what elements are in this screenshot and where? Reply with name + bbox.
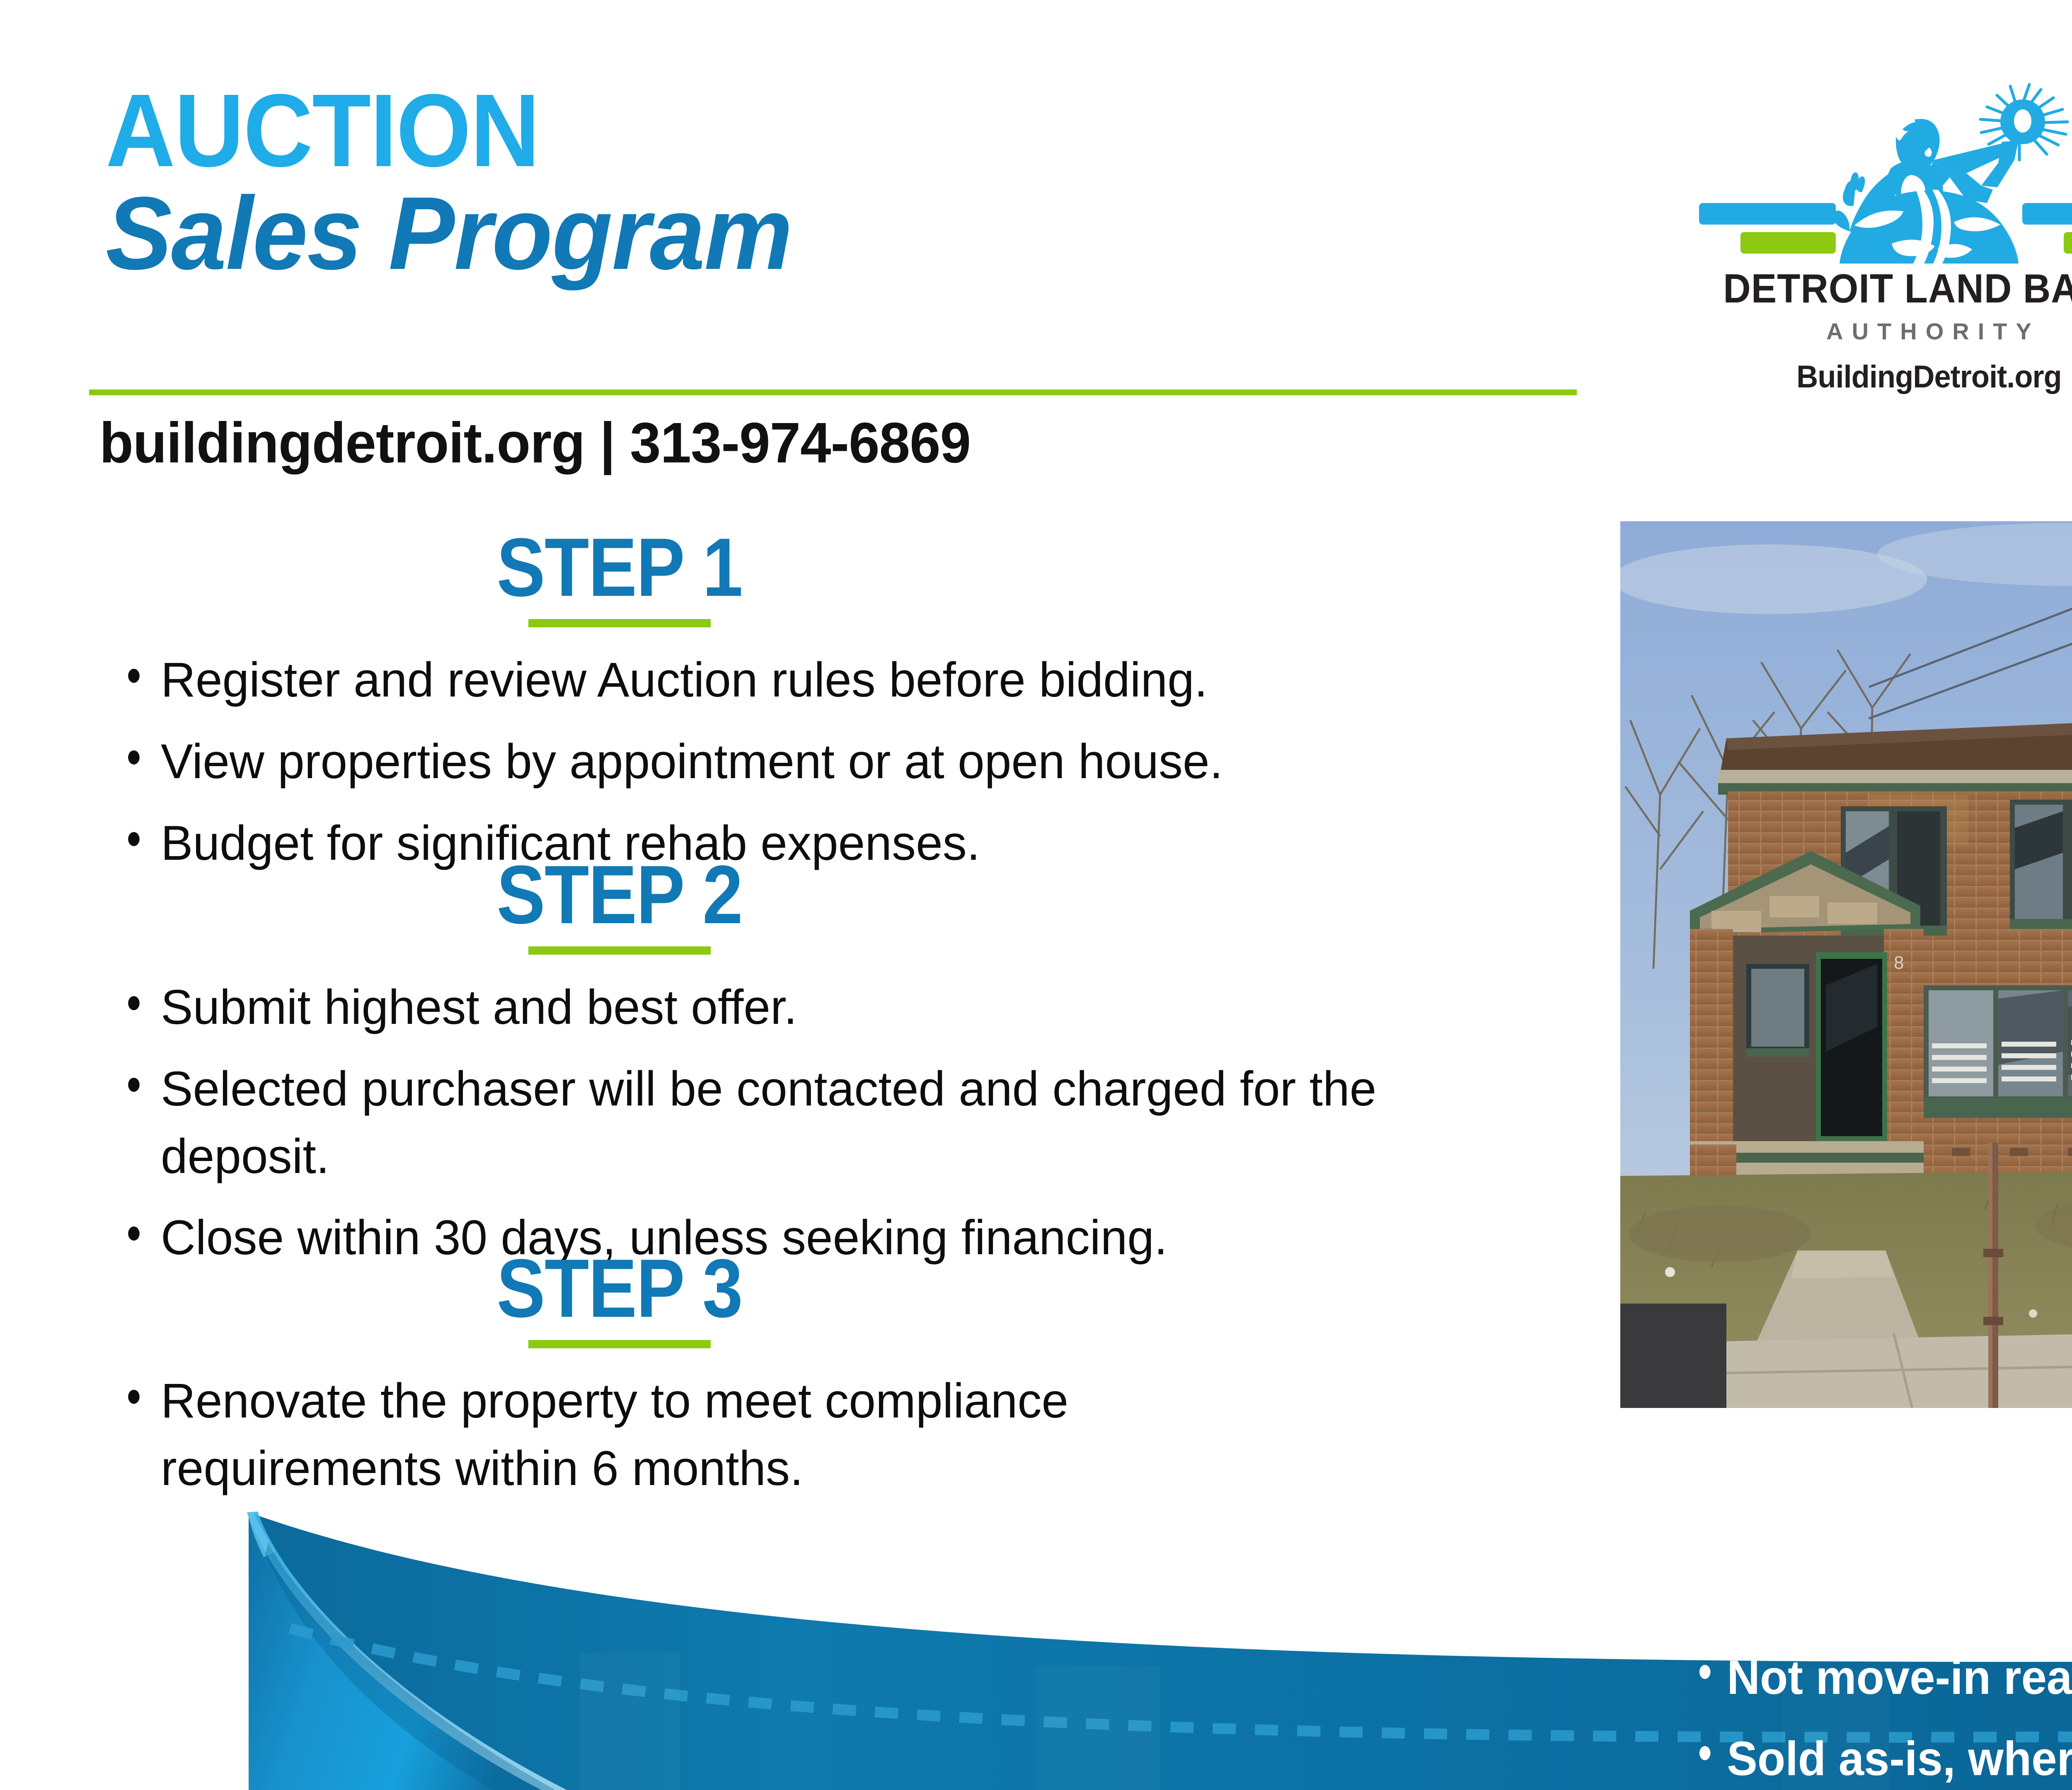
logo-bar-green-left <box>1740 232 1836 254</box>
step-3-underline <box>528 1340 711 1348</box>
step-2-bullet-list: Submit highest and best offer. Selected … <box>106 974 1577 1272</box>
logo-bar-blue-right <box>2022 203 2072 225</box>
ribbon-bullet-list: Not move-in ready Sold as-is, where-is <box>1691 1653 2072 1790</box>
title-block: AUCTION Sales Program <box>106 83 1598 285</box>
list-item: View properties by appointment or at ope… <box>106 728 1467 796</box>
step-3-title: STEP 3 <box>497 1247 743 1330</box>
logo-bar-green-right <box>2064 232 2072 254</box>
property-photo: 8 <box>1620 521 2072 1408</box>
step-2: STEP 2 Submit highest and best offer. Se… <box>106 854 1577 1286</box>
step-1-header: STEP 1 <box>106 526 1133 627</box>
list-item: Register and review Auction rules before… <box>106 646 1467 714</box>
svg-text:8: 8 <box>1894 953 1904 973</box>
step-1: STEP 1 Register and review Auction rules… <box>106 526 1577 891</box>
step-1-underline <box>528 619 711 627</box>
logo-org-subtitle: AUTHORITY <box>1670 318 2072 345</box>
logo-url[interactable]: BuildingDetroit.org <box>1683 359 2072 395</box>
step-1-title: STEP 1 <box>497 526 743 609</box>
step-1-bullet-list: Register and review Auction rules before… <box>106 646 1577 877</box>
list-item: Sold as-is, where-is <box>1691 1734 2072 1783</box>
list-item: Not move-in ready <box>1691 1653 2072 1701</box>
step-3-header: STEP 3 <box>106 1247 1133 1348</box>
step-2-underline <box>528 946 711 955</box>
flyer-canvas: AUCTION Sales Program buildingdetroit.or… <box>0 0 2072 1790</box>
step-2-header: STEP 2 <box>106 854 1133 955</box>
step-2-title: STEP 2 <box>497 854 743 936</box>
logo-bar-blue-left <box>1699 203 1836 225</box>
title-divider-rule <box>89 389 1577 395</box>
page-title-auction: AUCTION <box>106 83 1493 178</box>
logo-org-name: DETROIT LAND BANK <box>1686 265 2072 312</box>
logo-bar-group-right <box>2022 203 2072 254</box>
logo-bar-group-left <box>1699 203 1836 254</box>
list-item: Submit highest and best offer. <box>106 974 1467 1041</box>
statue-base-icon <box>1830 190 2028 264</box>
detroit-land-bank-logo: DETROIT LAND BANK AUTHORITY BuildingDetr… <box>1670 79 2072 395</box>
list-item: Selected purchaser will be contacted and… <box>106 1055 1406 1190</box>
contact-line[interactable]: buildingdetroit.org | 313-974-6869 <box>99 414 971 472</box>
page-title-sales-program: Sales Program <box>106 181 1538 285</box>
logo-mark <box>1670 79 2072 261</box>
